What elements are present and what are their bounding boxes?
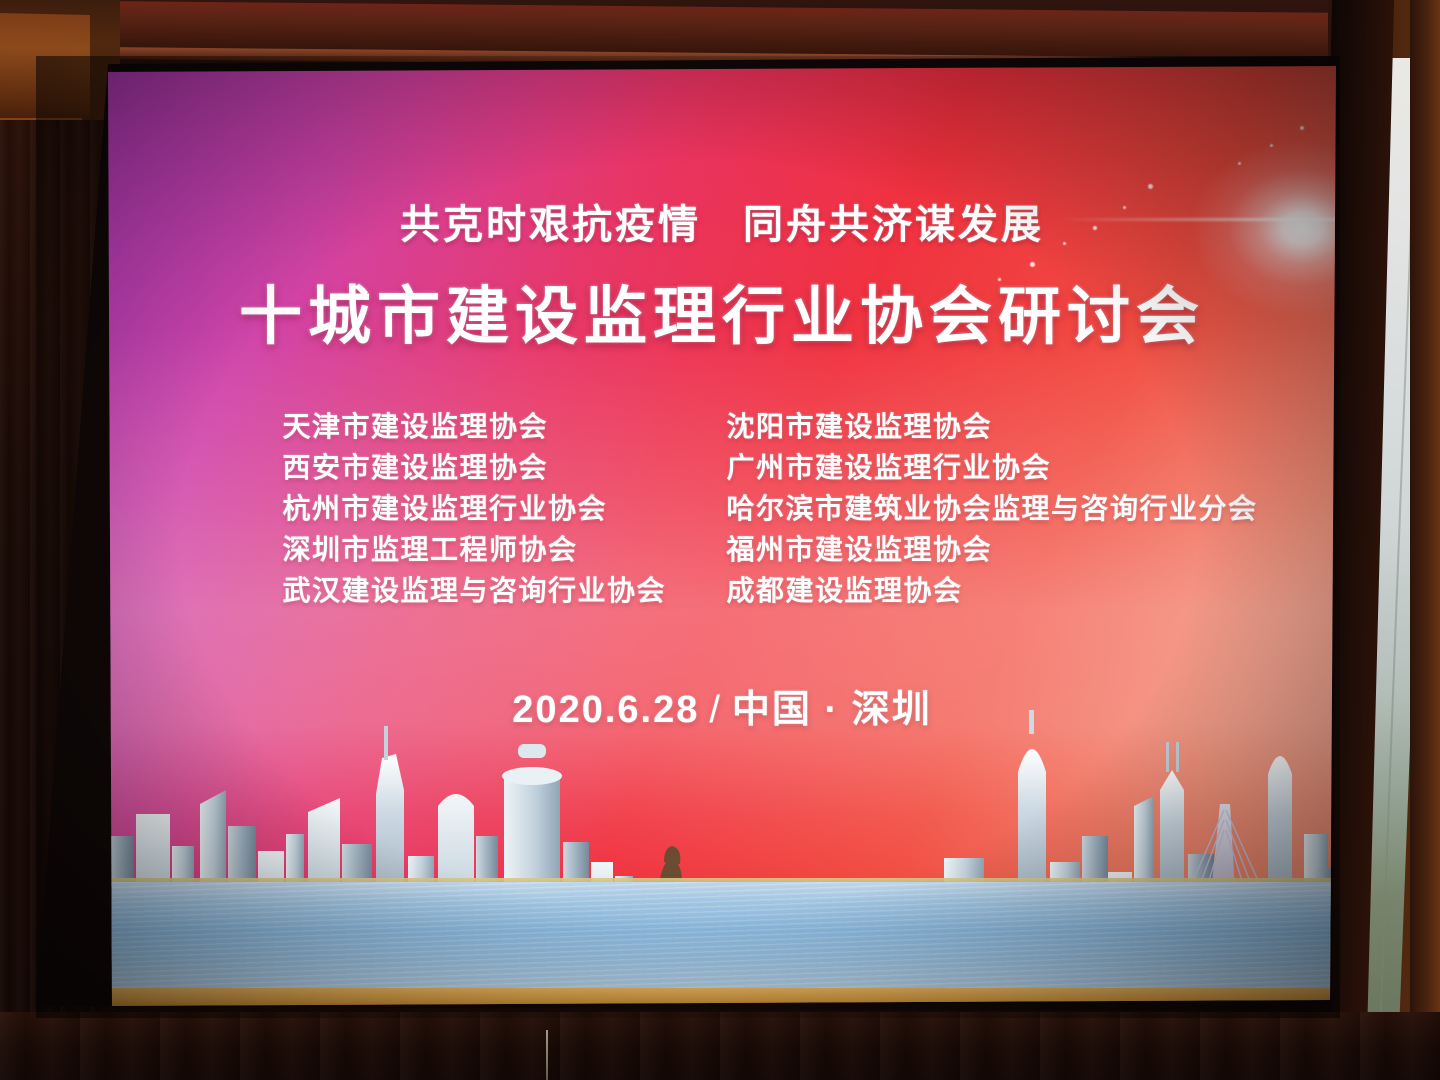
projected-slide: 共克时艰抗疫情同舟共济谋发展 十城市建设监理行业协会研讨会 天津市建设监理协会 … [108, 66, 1336, 1006]
slide-main-title: 十城市建设监理行业协会研讨会 [108, 266, 1336, 357]
association-right-3: 哈尔滨市建筑业协会监理与咨询行业分会 [726, 488, 1257, 529]
association-left-3: 杭州市建设监理行业协会 [282, 488, 702, 529]
right-curtain-outer [1410, 0, 1440, 1080]
subtitle-right-phrase: 同舟共济谋发展 [743, 203, 1044, 247]
bottom-curtain [0, 1012, 1440, 1080]
skyline-artwork [108, 686, 1336, 1006]
water-ripples [108, 882, 1336, 990]
association-list: 天津市建设监理协会 沈阳市建设监理协会 西安市建设监理协会 广州市建设监理行业协… [108, 406, 1336, 611]
slide-subtitle: 共克时艰抗疫情同舟共济谋发展 [108, 192, 1336, 250]
subtitle-left-phrase: 共克时艰抗疫情 [400, 203, 701, 247]
water-bay [108, 882, 1336, 990]
association-right-2: 广州市建设监理行业协会 [726, 447, 1257, 488]
association-right-1: 沈阳市建设监理协会 [726, 406, 1257, 447]
association-left-2: 西安市建设监理协会 [282, 447, 702, 488]
conference-room-photo: 共克时艰抗疫情同舟共济谋发展 十城市建设监理行业协会研讨会 天津市建设监理协会 … [0, 0, 1440, 1080]
screen-pull-cord[interactable] [546, 1030, 548, 1080]
association-left-5: 武汉建设监理与咨询行业协会 [282, 570, 702, 611]
association-left-1: 天津市建设监理协会 [282, 406, 702, 447]
association-right-4: 福州市建设监理协会 [726, 529, 1257, 570]
left-wall-wood-panel [0, 13, 90, 131]
association-left-4: 深圳市监理工程师协会 [282, 529, 702, 570]
association-right-5: 成都建设监理协会 [726, 570, 1257, 611]
